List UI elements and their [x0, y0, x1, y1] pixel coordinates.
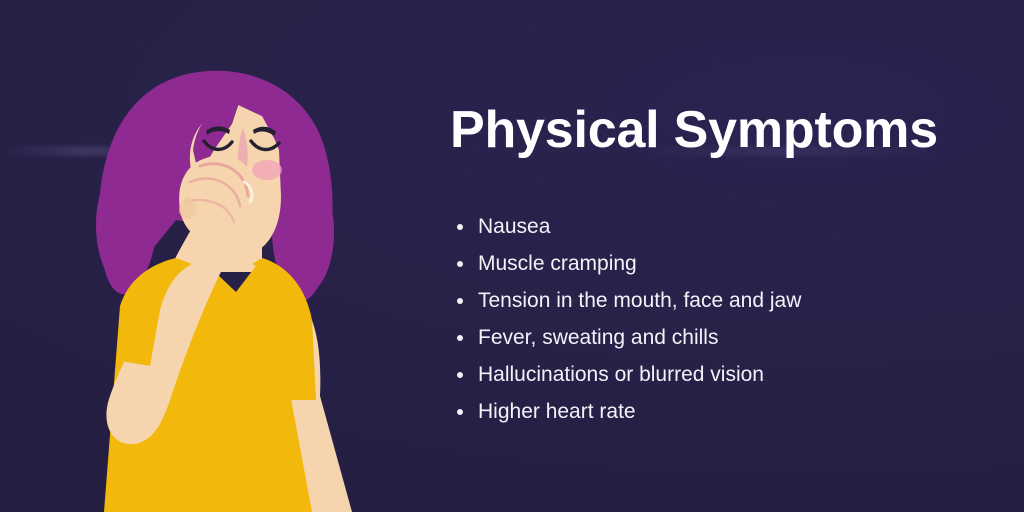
list-item: Fever, sweating and chills: [455, 319, 801, 356]
list-item: Muscle cramping: [455, 245, 801, 282]
bullet-icon: [457, 335, 463, 341]
page-title: Physical Symptoms: [450, 100, 938, 160]
bullet-icon: [457, 372, 463, 378]
bullet-icon: [457, 409, 463, 415]
bullet-icon: [457, 261, 463, 267]
infographic-card: Physical Symptoms Nausea Muscle cramping…: [0, 0, 1024, 512]
cheek-blush: [252, 160, 282, 180]
list-item-label: Tension in the mouth, face and jaw: [478, 289, 801, 312]
list-item-label: Hallucinations or blurred vision: [478, 363, 764, 386]
list-item-label: Higher heart rate: [478, 400, 636, 423]
list-item-label: Nausea: [478, 215, 550, 238]
woman-covering-mouth-illustration: [0, 0, 420, 512]
bullet-icon: [457, 298, 463, 304]
list-item: Tension in the mouth, face and jaw: [455, 282, 801, 319]
text-column: Physical Symptoms Nausea Muscle cramping…: [450, 0, 990, 512]
list-item-label: Fever, sweating and chills: [478, 326, 718, 349]
list-item: Nausea: [455, 208, 801, 245]
bullet-icon: [457, 224, 463, 230]
list-item: Hallucinations or blurred vision: [455, 356, 801, 393]
list-item-label: Muscle cramping: [478, 252, 637, 275]
symptom-list: Nausea Muscle cramping Tension in the mo…: [455, 208, 801, 430]
list-item: Higher heart rate: [455, 393, 801, 430]
